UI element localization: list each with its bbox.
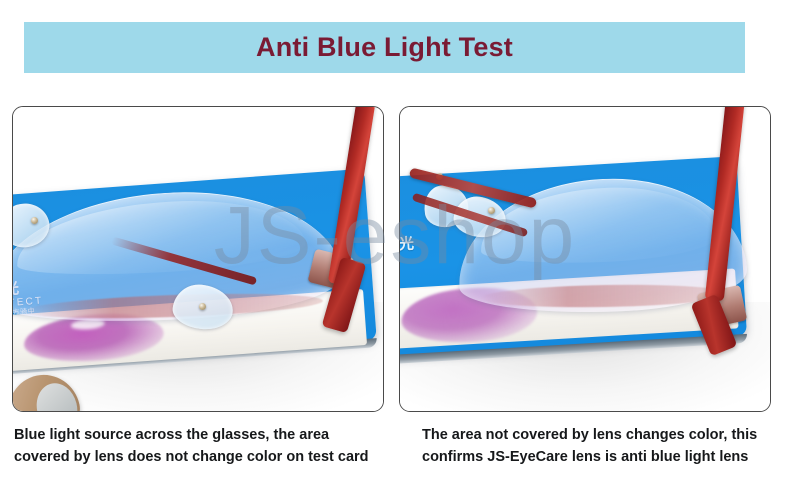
page-title: Anti Blue Light Test	[256, 32, 513, 63]
frame-screw-1	[199, 303, 206, 310]
card-print-line-small: 方中	[400, 264, 417, 274]
frame-screw-4	[488, 207, 495, 214]
title-banner: Anti Blue Light Test	[24, 22, 745, 73]
photo-area-not-covered-by-lens: 滤光 CT 方中	[400, 107, 770, 411]
frame-screw-2	[31, 217, 38, 224]
card-printed-text-right: 滤光 CT 方中	[400, 235, 417, 274]
caption-right: The area not covered by lens changes col…	[422, 424, 790, 469]
caption-left-line-2: covered by lens does not change color on…	[14, 446, 384, 468]
caption-left-line-1: Blue light source across the glasses, th…	[14, 424, 384, 446]
photo-blue-light-covered-by-lens: 滤光 ROTECT 方口白方骑中	[13, 107, 383, 411]
comparison-panels: 滤光 ROTECT 方口白方骑中	[0, 106, 790, 414]
caption-right-line-2: confirms JS-EyeCare lens is anti blue li…	[422, 446, 790, 468]
caption-left: Blue light source across the glasses, th…	[14, 424, 384, 469]
card-print-line-big: 滤光	[400, 235, 416, 254]
photo-panel-right: 滤光 CT 方中	[399, 106, 771, 412]
photo-panel-left: 滤光 ROTECT 方口白方骑中	[12, 106, 384, 412]
caption-right-line-1: The area not covered by lens changes col…	[422, 424, 790, 446]
